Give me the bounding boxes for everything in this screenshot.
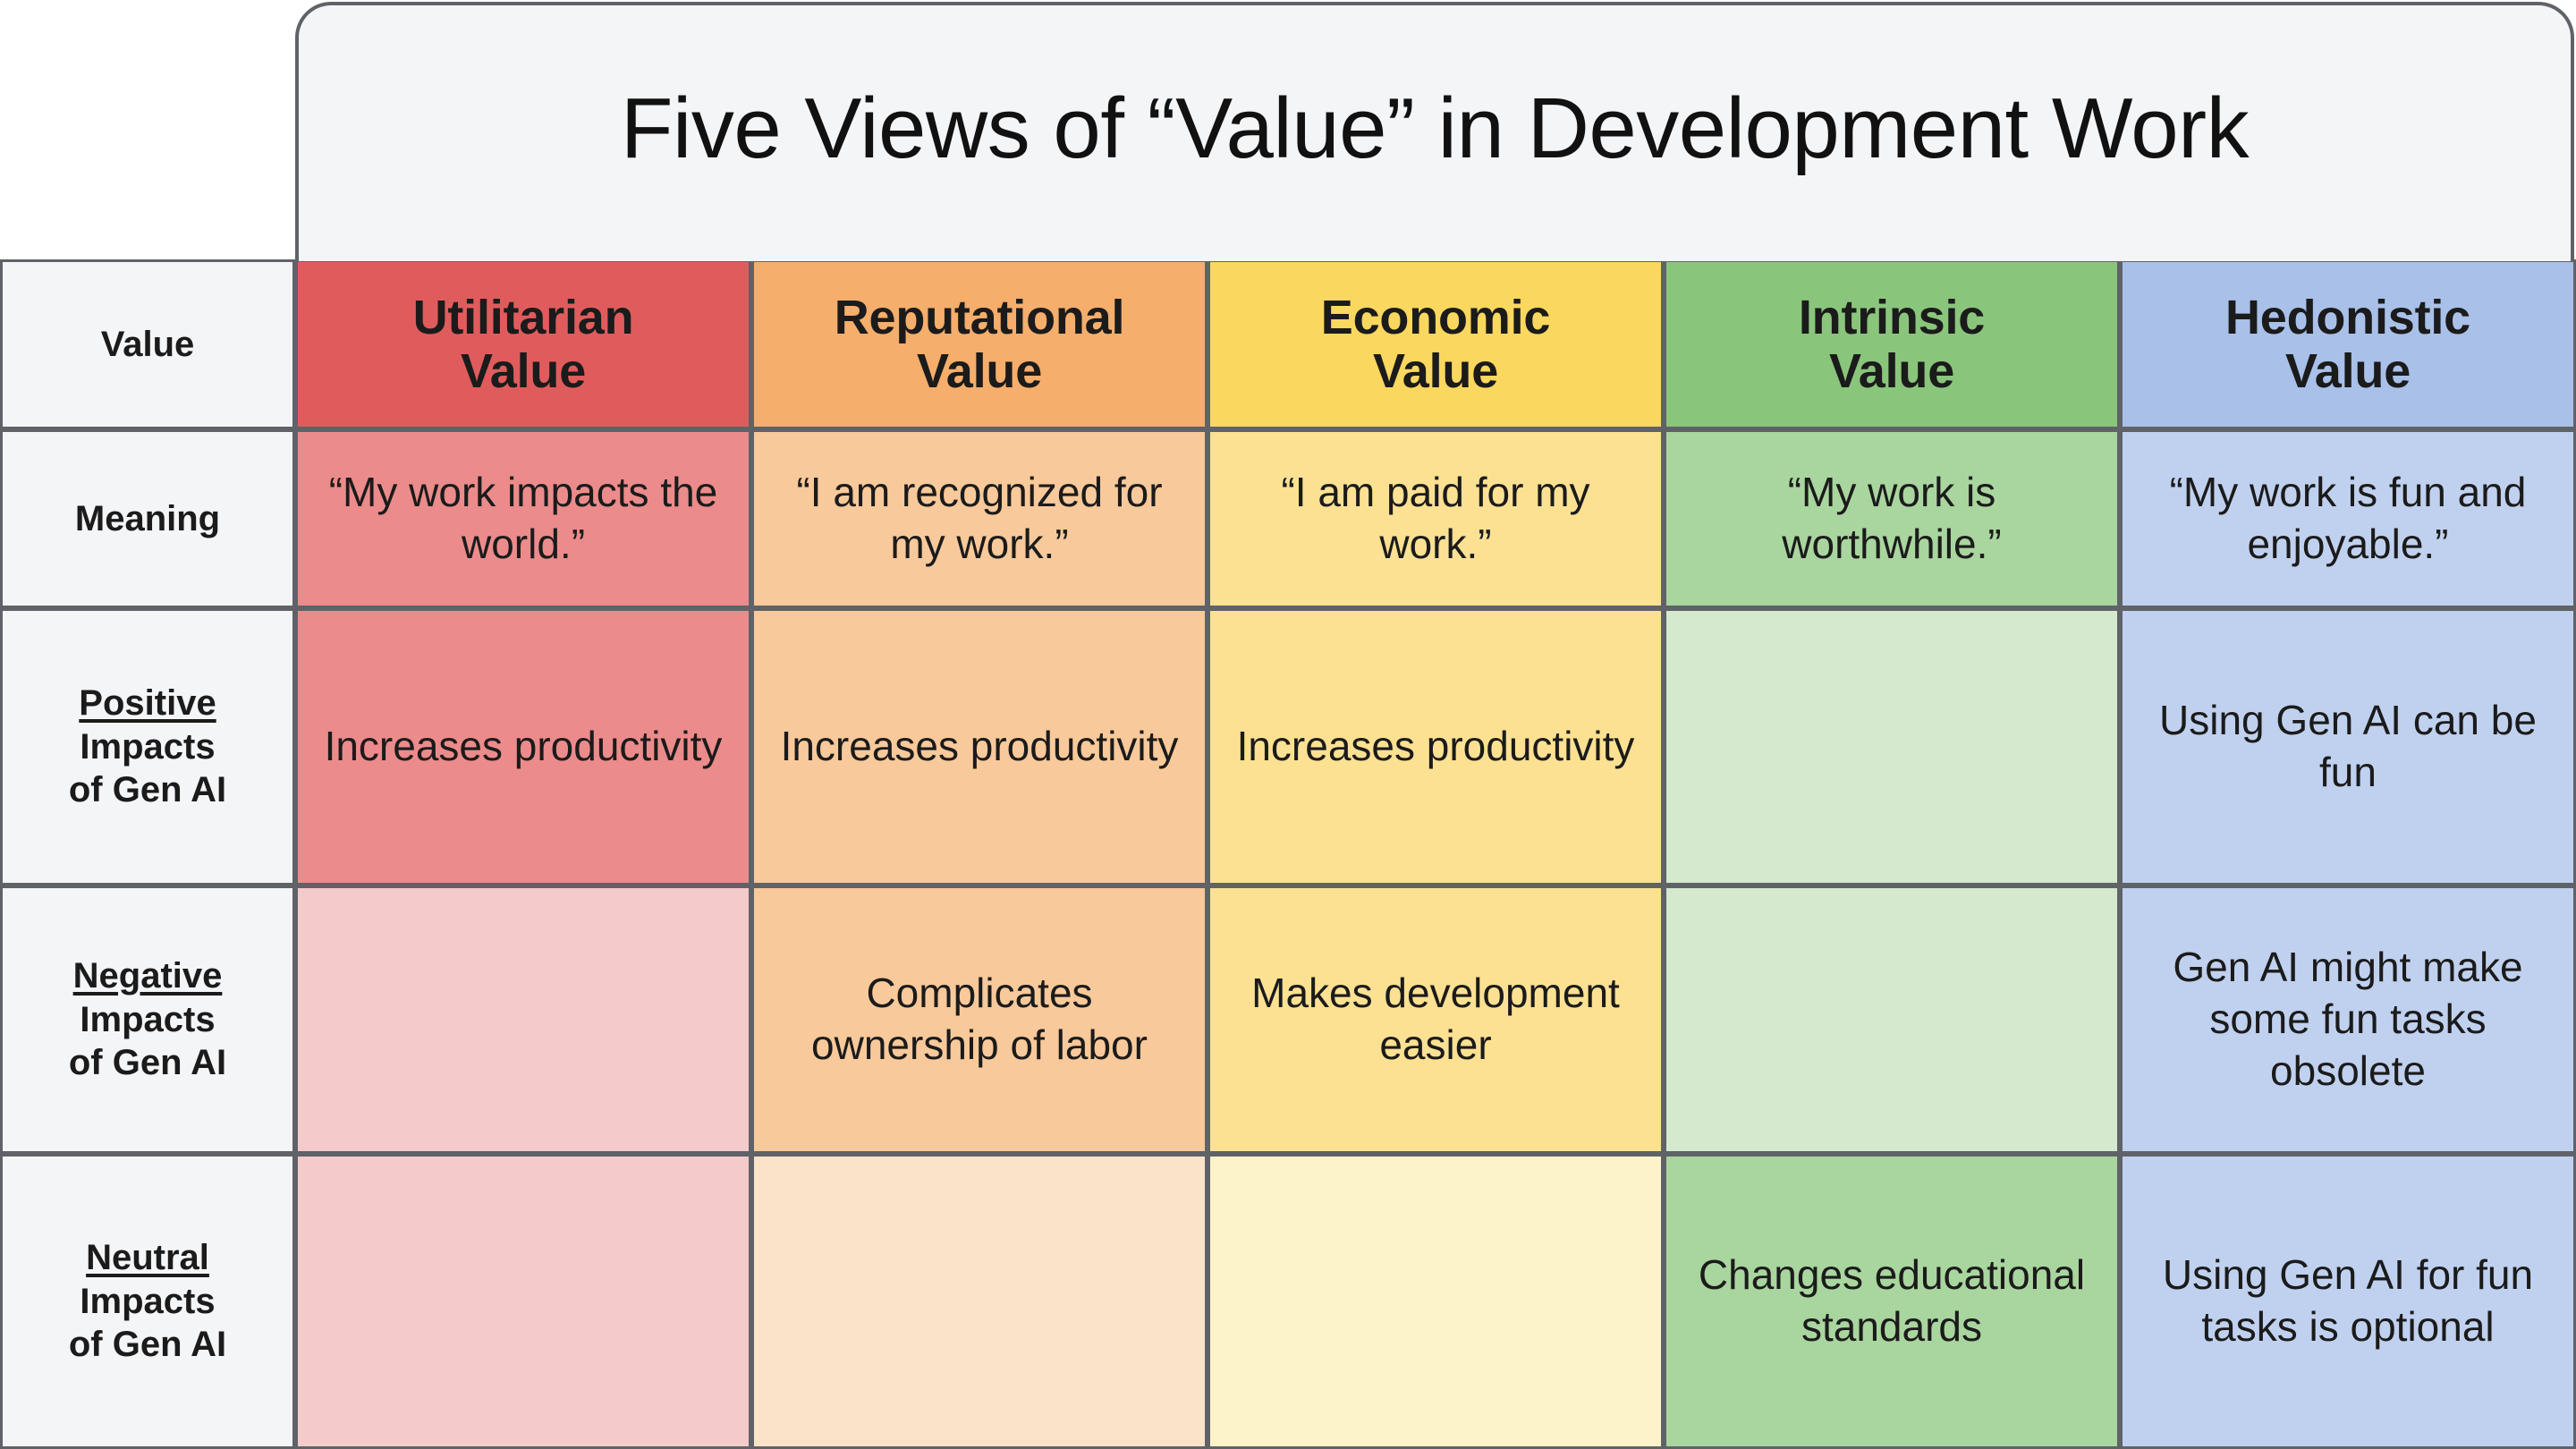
row-label-emphasis: Neutral [86,1236,209,1280]
cell-neutral-utilitarian [295,1154,751,1449]
column-header-stack: EconomicValue [1321,291,1550,399]
column-header-line1: Utilitarian [413,291,634,344]
column-header-line1: Economic [1321,291,1550,344]
column-header-stack: ReputationalValue [835,291,1125,399]
column-header-line2: Value [1373,344,1498,398]
cell-negative-economic: Makes development easier [1207,885,1664,1154]
value-matrix-table: ValueUtilitarianValueReputationalValueEc… [0,259,2576,1449]
title-card: Five Views of “Value” in Development Wor… [295,2,2574,261]
row-label-negative: NegativeImpactsof Gen AI [0,885,295,1154]
column-header-line1: Intrinsic [1799,291,1985,344]
cell-positive-reputational: Increases productivity [751,608,1207,885]
column-header-reputational: ReputationalValue [751,259,1207,429]
cell-negative-reputational: Complicates ownership of labor [751,885,1207,1154]
row-label-line: of Gen AI [69,1323,226,1367]
column-header-stack: HedonisticValue [2225,291,2470,399]
cell-neutral-hedonistic: Using Gen AI for fun tasks is optional [2120,1154,2576,1449]
infographic-page: Five Views of “Value” in Development Wor… [0,0,2576,1449]
page-title: Five Views of “Value” in Development Wor… [621,84,2249,183]
column-header-line1: Reputational [835,291,1125,344]
column-header-economic: EconomicValue [1207,259,1664,429]
column-header-line1: Hedonistic [2225,291,2470,344]
cell-negative-hedonistic: Gen AI might make some fun tasks obsolet… [2120,885,2576,1154]
row-label-emphasis: Positive [79,682,216,725]
column-header-line2: Value [2285,344,2411,398]
cell-negative-intrinsic [1664,885,2120,1154]
cell-neutral-reputational [751,1154,1207,1449]
cell-positive-intrinsic [1664,608,2120,885]
cell-positive-hedonistic: Using Gen AI can be fun [2120,608,2576,885]
cell-negative-utilitarian [295,885,751,1154]
cell-meaning-economic: “I am paid for my work.” [1207,429,1664,608]
cell-neutral-intrinsic: Changes educational standards [1664,1154,2120,1449]
row-label-line: of Gen AI [69,1041,226,1085]
row-label-line: of Gen AI [69,768,226,812]
row-label-positive: PositiveImpactsof Gen AI [0,608,295,885]
column-header-stack: IntrinsicValue [1799,291,1985,399]
row-label-line: Impacts [80,998,215,1042]
cell-meaning-hedonistic: “My work is fun and enjoyable.” [2120,429,2576,608]
row-label-neutral: NeutralImpactsof Gen AI [0,1154,295,1449]
cell-meaning-intrinsic: “My work is worthwhile.” [1664,429,2120,608]
row-label-meaning: Meaning [0,429,295,608]
column-header-line2: Value [917,344,1042,398]
row-label-emphasis: Negative [73,954,223,998]
column-header-hedonistic: HedonisticValue [2120,259,2576,429]
column-header-line2: Value [1829,344,1954,398]
corner-header-value: Value [0,259,295,429]
cell-neutral-economic [1207,1154,1664,1449]
column-header-intrinsic: IntrinsicValue [1664,259,2120,429]
cell-positive-economic: Increases productivity [1207,608,1664,885]
column-header-stack: UtilitarianValue [413,291,634,399]
cell-meaning-reputational: “I am recognized for my work.” [751,429,1207,608]
row-label-line: Impacts [80,1280,215,1324]
cell-meaning-utilitarian: “My work impacts the world.” [295,429,751,608]
corner-label-text: Value [101,323,195,367]
row-label-line: Meaning [75,497,220,541]
column-header-line2: Value [461,344,586,398]
cell-positive-utilitarian: Increases productivity [295,608,751,885]
row-label-line: Impacts [80,725,215,769]
column-header-utilitarian: UtilitarianValue [295,259,751,429]
